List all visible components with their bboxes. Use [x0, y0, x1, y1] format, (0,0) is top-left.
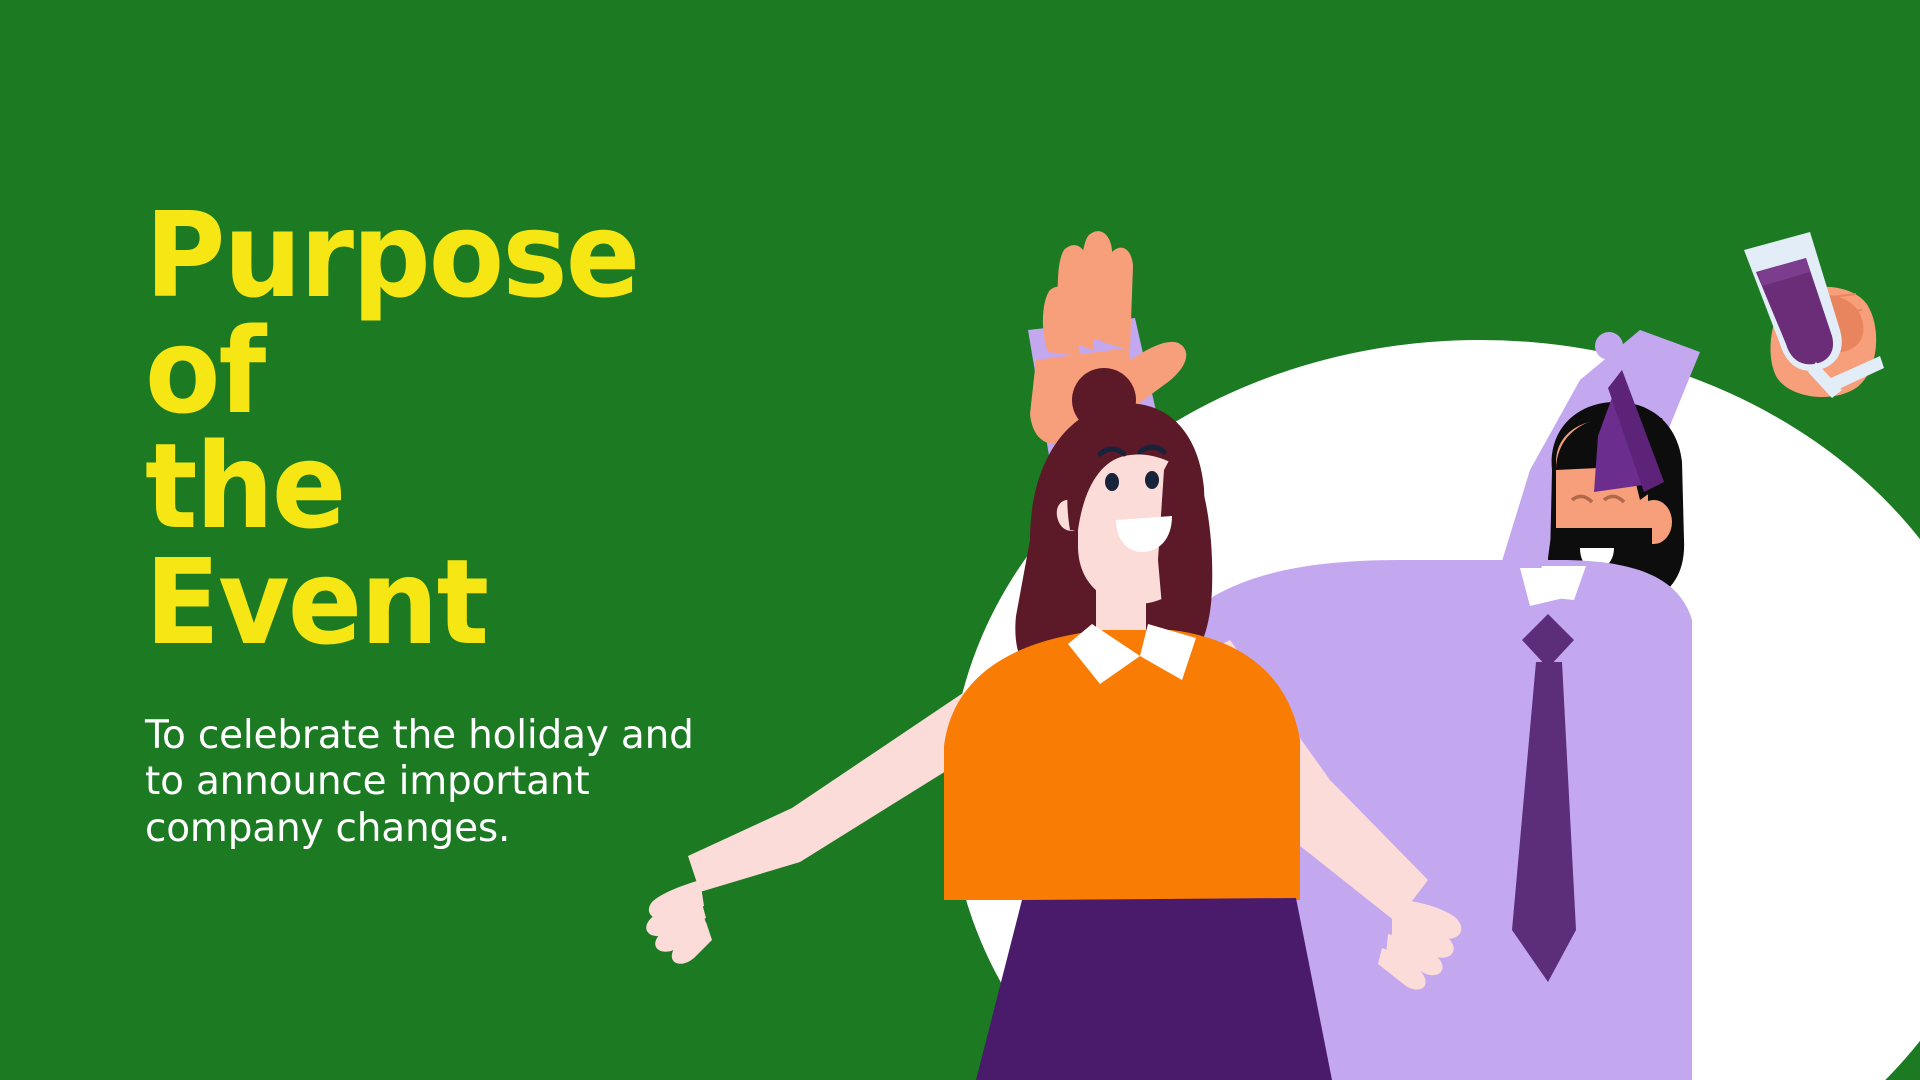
- woman-skirt: [976, 898, 1332, 1080]
- page-title: Purpose of the Event: [145, 198, 722, 661]
- woman-eye-right: [1145, 471, 1159, 489]
- woman-left-hand: [646, 880, 712, 964]
- text-block: Purpose of the Event To celebrate the ho…: [145, 198, 765, 853]
- slide-canvas: Purpose of the Event To celebrate the ho…: [0, 0, 1920, 1080]
- woman-eye-left: [1105, 473, 1119, 491]
- hat-pompom: [1595, 332, 1623, 360]
- page-subtitle: To celebrate the holiday and to announce…: [145, 713, 705, 853]
